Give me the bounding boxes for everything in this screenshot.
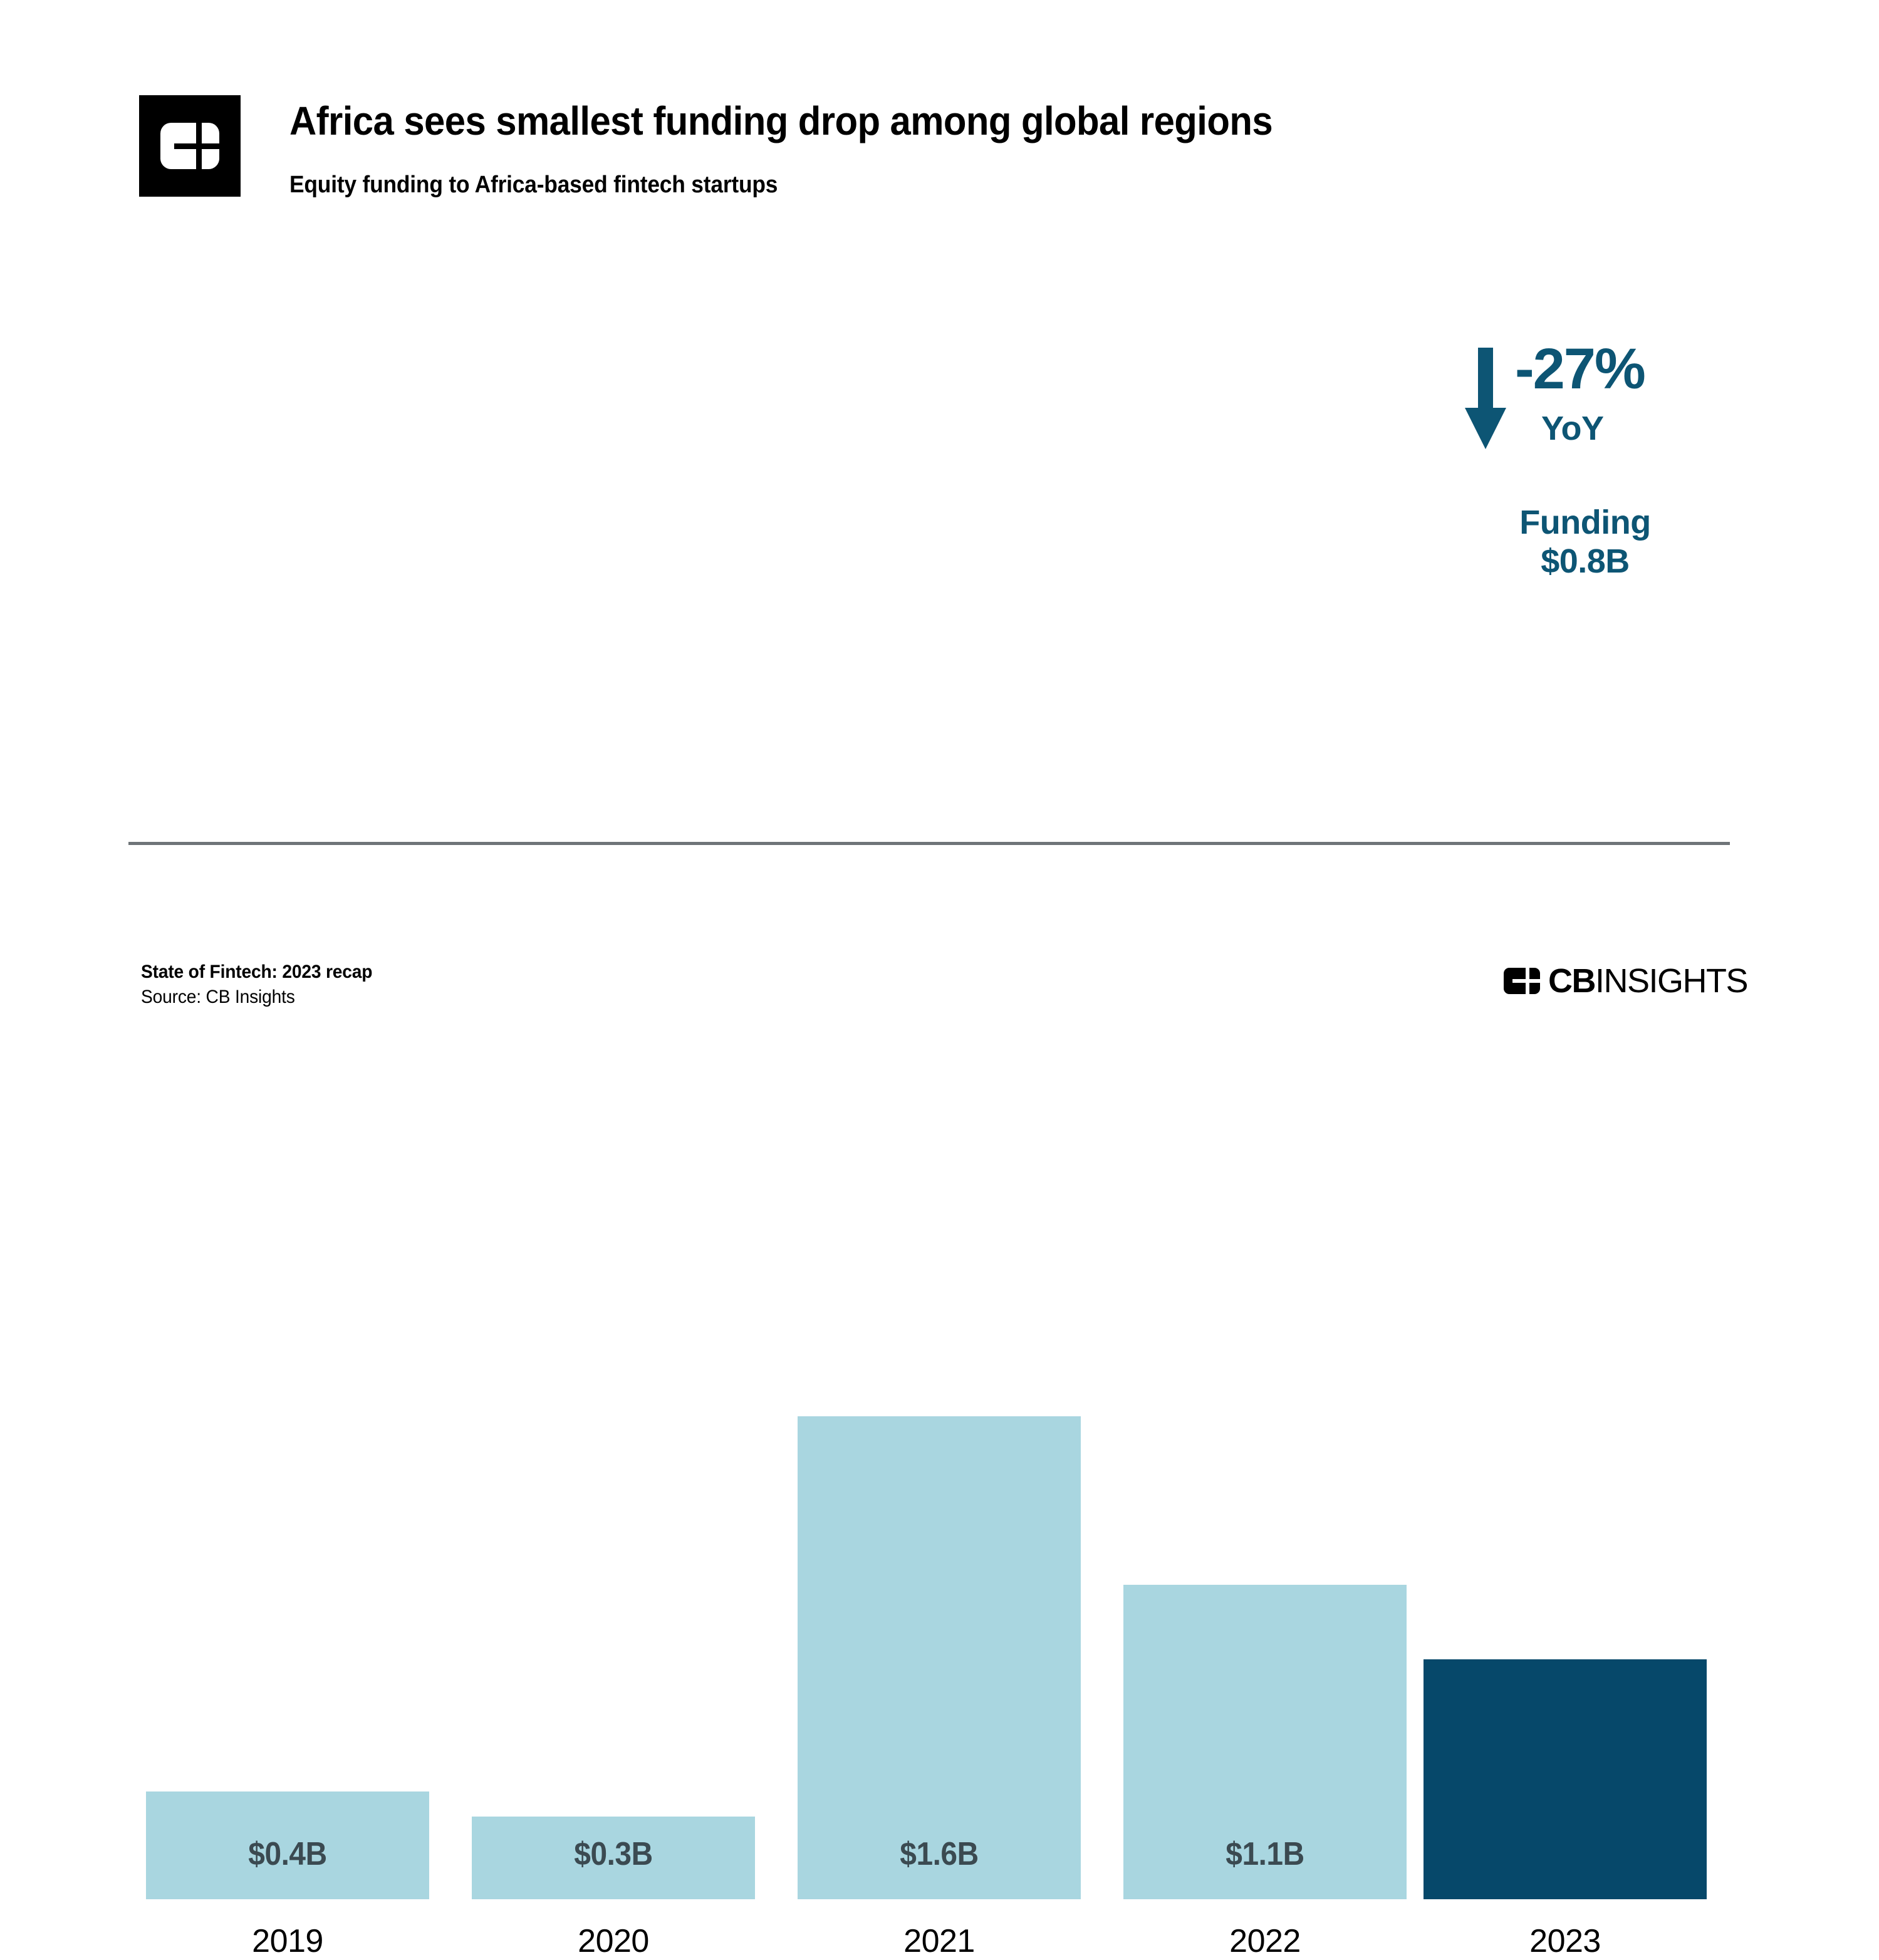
cb-insights-wordmark: CB INSIGHTS: [1504, 963, 1747, 998]
yoy-delta-value: -27%: [1515, 336, 1645, 402]
brand-text-cb: CB: [1548, 964, 1595, 998]
footer-source-block: State of Fintech: 2023 recap Source: CB …: [141, 962, 387, 1008]
bar-2023: [1424, 1659, 1707, 1899]
bar-category-2021: 2021: [798, 1922, 1081, 1960]
bar-2021: [798, 1416, 1081, 1899]
bar-value-2020: $0.3B: [483, 1835, 744, 1873]
funding-metric-value: $0.8B: [1460, 542, 1710, 581]
bar-value-2019: $0.4B: [157, 1835, 418, 1873]
yoy-period-label: YoY: [1541, 409, 1604, 448]
yoy-annotation: -27% YoY Funding $0.8B: [1460, 341, 1710, 604]
source-line: Source: CB Insights: [141, 987, 372, 1008]
bar-value-2022: $1.1B: [1135, 1835, 1395, 1873]
bar-category-2022: 2022: [1123, 1922, 1407, 1960]
brand-mark-horizontal-bar: [1512, 979, 1540, 983]
funding-metric-label: Funding: [1460, 503, 1710, 542]
cb-insights-mark-icon: [1504, 968, 1540, 994]
bar-category-2020: 2020: [472, 1922, 755, 1960]
bar-category-2019: 2019: [146, 1922, 429, 1960]
arrow-down-icon: [1465, 348, 1506, 449]
brand-text-insights: INSIGHTS: [1595, 964, 1747, 998]
bar-category-2023: 2023: [1424, 1922, 1707, 1960]
x-axis-line: [128, 842, 1730, 845]
bar-value-2021: $1.6B: [809, 1835, 1070, 1873]
report-name: State of Fintech: 2023 recap: [141, 962, 372, 983]
